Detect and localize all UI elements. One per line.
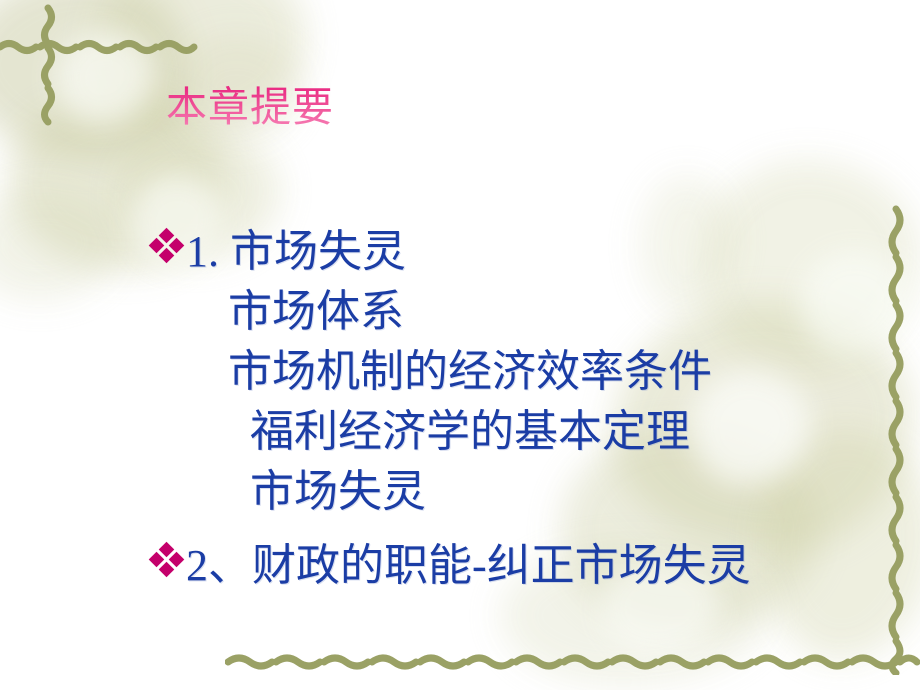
presentation-slide: 本章提要 1. 市场失灵 市场体系 市场机制的经济效率条件 福利经济学的基本定理… (0, 0, 920, 690)
outline-line-text: 1. 市场失灵 (186, 222, 406, 282)
outline-line: 市场失灵 (150, 462, 890, 522)
outline-line-text: 福利经济学的基本定理 (250, 402, 690, 462)
outline-line: 市场体系 (150, 282, 890, 342)
outline-line: 市场机制的经济效率条件 (150, 342, 890, 402)
outline-line-text: 市场机制的经济效率条件 (228, 342, 712, 402)
diamond-bullet-icon (150, 542, 184, 576)
slide-body-outline: 1. 市场失灵 市场体系 市场机制的经济效率条件 福利经济学的基本定理 市场失灵… (150, 222, 890, 596)
diamond-bullet-icon (150, 228, 184, 262)
outline-line: 福利经济学的基本定理 (150, 402, 890, 462)
vine-decoration-bottom (225, 645, 920, 679)
outline-line: 2、财政的职能-纠正市场失灵 (150, 536, 890, 596)
outline-line-text: 市场失灵 (250, 462, 426, 522)
outline-line-text: 市场体系 (228, 282, 404, 342)
outline-line-text: 2、财政的职能-纠正市场失灵 (186, 536, 751, 596)
outline-line: 1. 市场失灵 (150, 222, 890, 282)
page-title: 本章提要 (166, 84, 334, 131)
